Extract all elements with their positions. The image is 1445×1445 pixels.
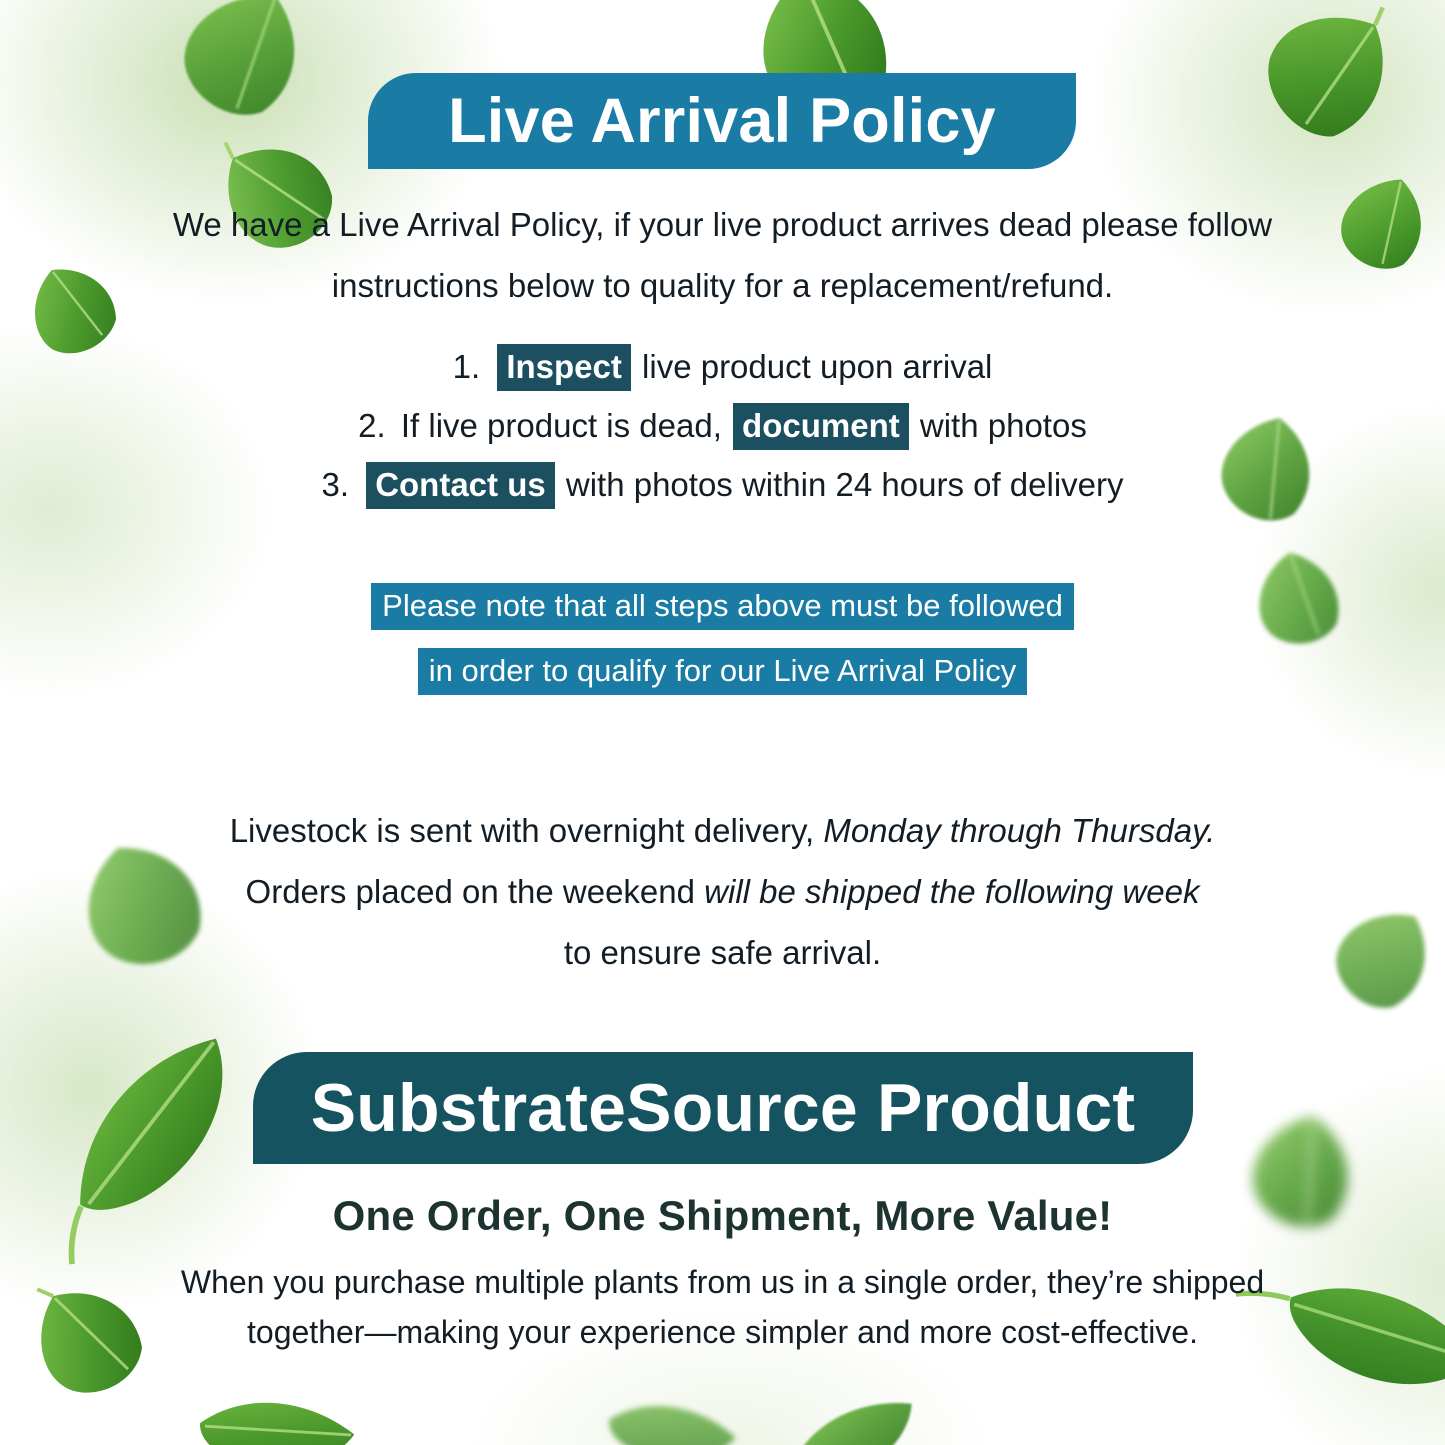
step-number: 2.: [358, 407, 386, 444]
list-item: 2. If live product is dead, document wit…: [120, 409, 1325, 442]
value-line-2: together—making your experience simpler …: [160, 1308, 1285, 1358]
policy-steps-list: 1. Inspect live product upon arrival 2. …: [120, 350, 1325, 527]
shipping-italic-1: Monday through Thursday.: [823, 812, 1215, 849]
shipping-line-1: Livestock is sent with overnight deliver…: [200, 800, 1245, 861]
note-line-1-wrapper: Please note that all steps above must be…: [120, 583, 1325, 630]
note-line-2-wrapper: in order to qualify for our Live Arrival…: [120, 648, 1325, 695]
shipping-italic-2: will be shipped the following week: [704, 873, 1199, 910]
live-arrival-policy-title: Live Arrival Policy: [448, 85, 996, 157]
list-item: 1. Inspect live product upon arrival: [120, 350, 1325, 383]
leaf-icon: [770, 1378, 940, 1445]
step-text-after: with photos within 24 hours of delivery: [566, 466, 1124, 503]
note-line-2: in order to qualify for our Live Arrival…: [418, 648, 1028, 695]
shipping-text-2: Orders placed on the weekend: [246, 873, 695, 910]
leaf-icon: [587, 1367, 752, 1445]
step-text-after: with photos: [920, 407, 1087, 444]
live-arrival-policy-infographic: Live Arrival Policy We have a Live Arriv…: [0, 0, 1445, 1445]
intro-paragraph: We have a Live Arrival Policy, if your l…: [150, 194, 1295, 316]
leaf-icon: [1224, 0, 1436, 181]
leaf-icon: [1315, 155, 1445, 296]
value-line-1: When you purchase multiple plants from u…: [160, 1258, 1285, 1308]
leaf-icon: [1301, 876, 1445, 1043]
shipping-text-1: Livestock is sent with overnight deliver…: [230, 812, 814, 849]
shipping-text-3: to ensure safe arrival.: [564, 934, 881, 971]
leaf-icon: [177, 1361, 373, 1445]
value-proposition-paragraph: When you purchase multiple plants from u…: [160, 1258, 1285, 1357]
step-number: 1.: [453, 348, 481, 385]
shipping-schedule-paragraph: Livestock is sent with overnight deliver…: [200, 800, 1245, 983]
live-arrival-policy-banner: Live Arrival Policy: [368, 73, 1076, 169]
step-number: 3.: [321, 466, 349, 503]
step-highlight: Inspect: [497, 344, 631, 391]
leaf-icon: [144, 0, 347, 156]
note-line-1: Please note that all steps above must be…: [371, 583, 1074, 630]
step-text-after: live product upon arrival: [642, 348, 992, 385]
shipping-line-3: to ensure safe arrival.: [200, 922, 1245, 983]
step-highlight: document: [733, 403, 909, 450]
substratesource-product-banner: SubstrateSource Product: [253, 1052, 1193, 1164]
leaf-icon: [0, 1248, 182, 1431]
intro-line-2: instructions below to quality for a repl…: [150, 255, 1295, 316]
step-text-before: If live product is dead,: [401, 407, 722, 444]
step-highlight: Contact us: [366, 462, 555, 509]
intro-line-1: We have a Live Arrival Policy, if your l…: [150, 194, 1295, 255]
value-proposition-heading: One Order, One Shipment, More Value!: [150, 1192, 1295, 1240]
substratesource-product-title: SubstrateSource Product: [311, 1069, 1136, 1147]
policy-note: Please note that all steps above must be…: [120, 583, 1325, 713]
list-item: 3. Contact us with photos within 24 hour…: [120, 468, 1325, 501]
shipping-line-2: Orders placed on the weekend will be shi…: [200, 861, 1245, 922]
